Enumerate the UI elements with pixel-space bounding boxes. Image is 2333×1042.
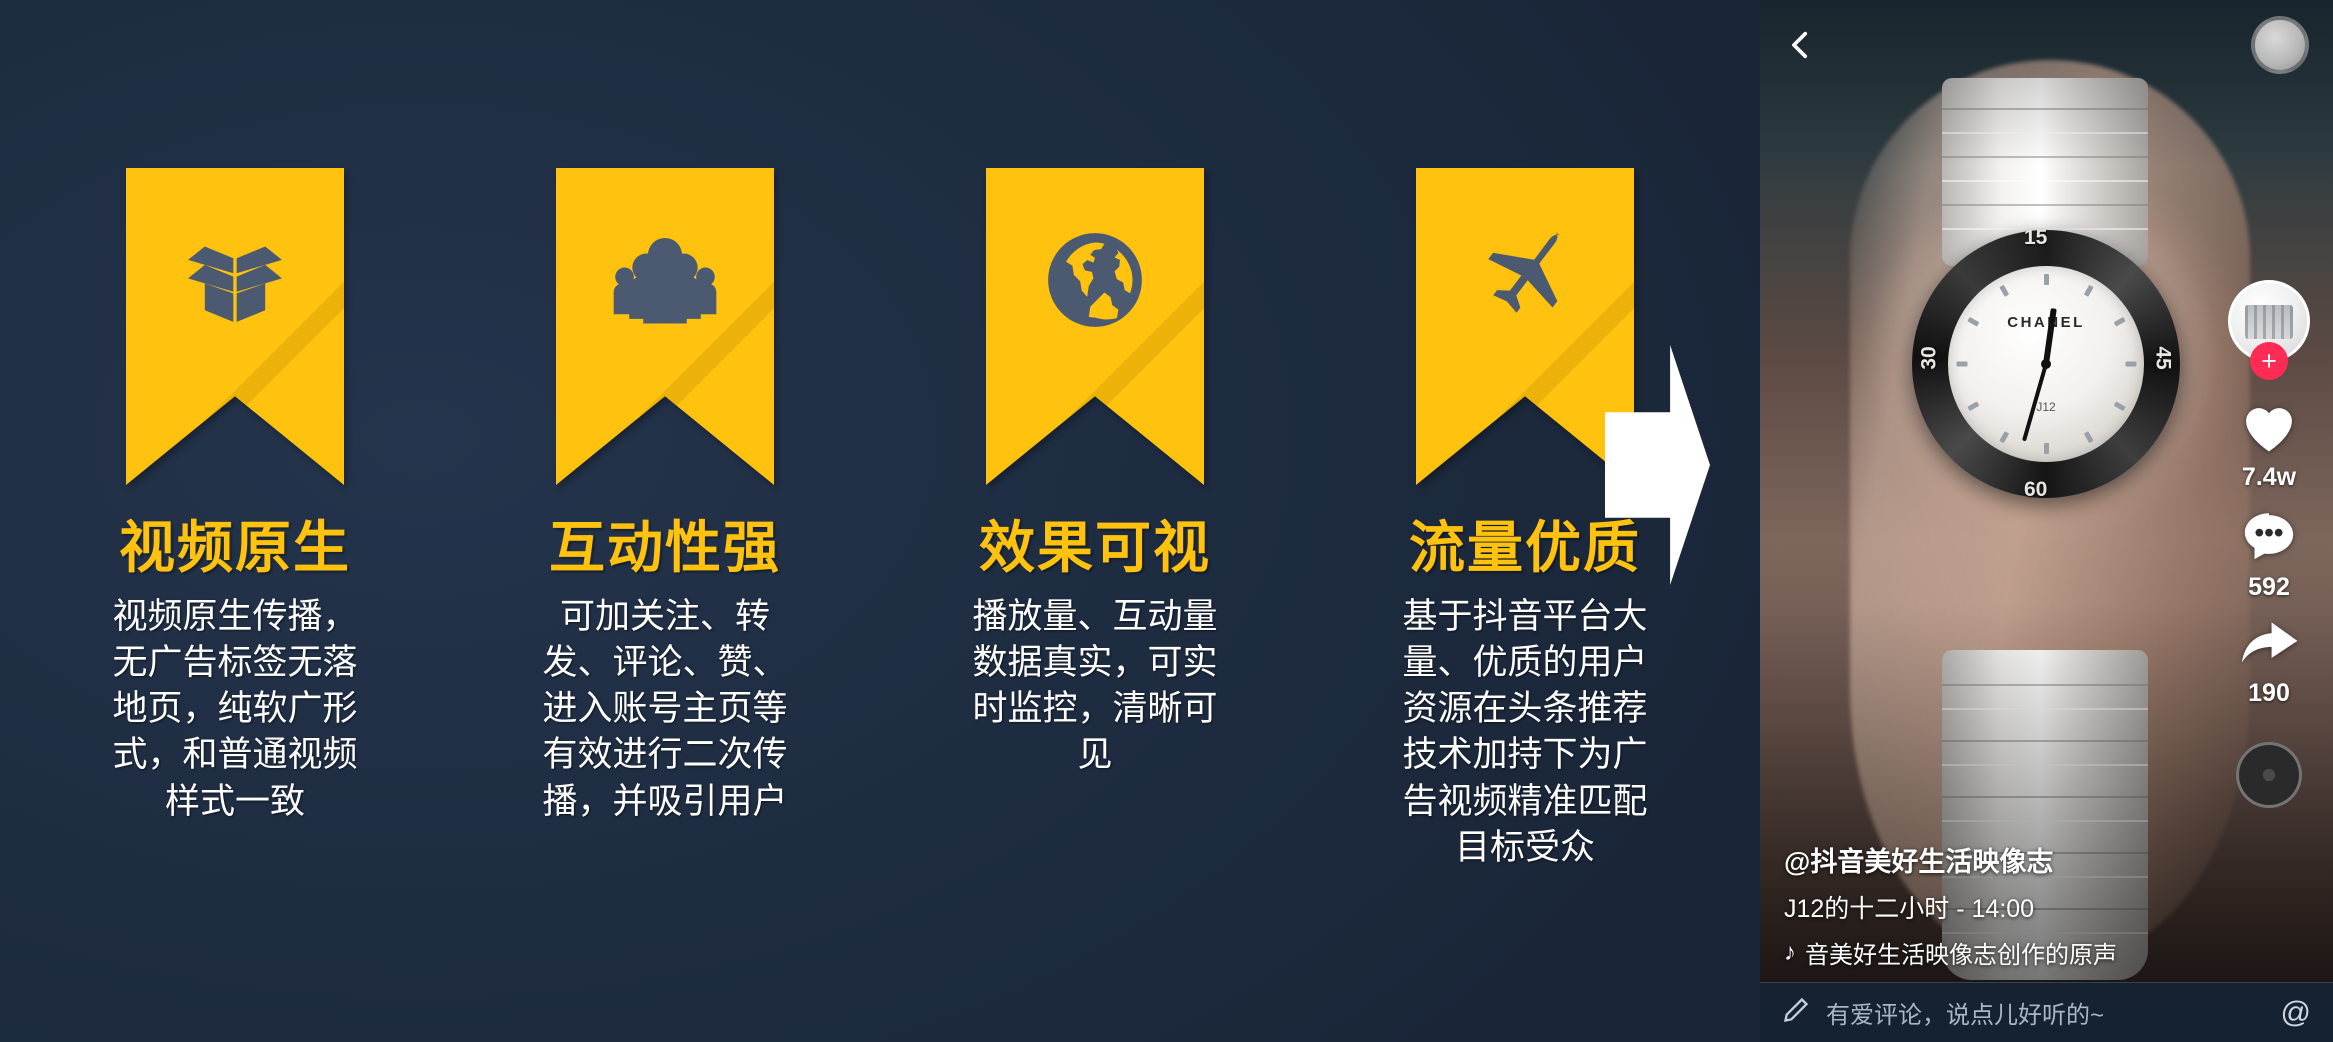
strap-link — [1942, 156, 2148, 182]
author-avatar[interactable]: + — [2228, 280, 2310, 380]
feature-ribbon-1 — [126, 168, 344, 485]
watch-dial: CHANEL J12 — [1948, 266, 2144, 462]
bezel-number-30: 30 — [1918, 346, 1942, 369]
strap-link — [1942, 108, 2148, 134]
dial-marker — [1999, 431, 2009, 443]
feature-column-3: 效果可视 播放量、互动量数据真实，可实时监控，清晰可见 — [880, 0, 1310, 1042]
feature-title: 互动性强 — [549, 519, 781, 578]
mention-at-icon[interactable]: @ — [2281, 998, 2311, 1028]
feature-title: 效果可视 — [979, 519, 1211, 578]
feature-column-1: 视频原生 视频原生传播，无广告标签无落地页，纯软广形式，和普通视频样式一致 — [20, 0, 450, 1042]
slide-root: 视频原生 视频原生传播，无广告标签无落地页，纯软广形式，和普通视频样式一致 — [0, 0, 2333, 1042]
feature-description: 基于抖音平台大量、优质的用户资源在头条推荐技术加持下为广告视频精准匹配目标受众 — [1389, 594, 1661, 871]
arrow-shape — [1605, 345, 1710, 585]
airplane-icon — [1416, 220, 1634, 340]
bezel-number-60: 60 — [2024, 478, 2047, 502]
dial-marker — [1956, 362, 1967, 367]
follow-button[interactable]: + — [2250, 342, 2288, 380]
feature-ribbon-4 — [1416, 168, 1634, 485]
video-top-bar — [1760, 0, 2333, 90]
feature-ribbon-3 — [986, 168, 1204, 485]
heart-icon — [2238, 398, 2300, 459]
right-arrow-icon — [1605, 345, 1710, 585]
like-button[interactable]: 7.4w — [2238, 398, 2300, 492]
music-name: 音美好生活映像志创作的原声 — [1805, 935, 2117, 970]
author-name[interactable]: @抖音美好生活映像志 — [1784, 840, 2204, 879]
music-info[interactable]: ♪ 音美好生活映像志创作的原声 — [1784, 935, 2204, 970]
features-panel: 视频原生 视频原生传播，无广告标签无落地页，纯软广形式，和普通视频样式一致 — [0, 0, 1760, 1042]
dial-marker — [2044, 443, 2049, 454]
pencil-icon — [1782, 996, 1810, 1029]
comment-count: 592 — [2248, 573, 2290, 602]
music-note-icon: ♪ — [1784, 939, 1796, 967]
user-group-icon — [556, 220, 774, 340]
feature-column-2: 互动性强 可加关注、转发、评论、赞、进入账号主页等有效进行二次传播，并吸引用户 — [450, 0, 880, 1042]
strap-link — [1942, 796, 2148, 822]
share-button[interactable]: 190 — [2238, 616, 2300, 708]
package-box-icon — [126, 220, 344, 340]
strap-link — [1942, 740, 2148, 766]
video-title: J12的十二小时 - 14:00 — [1784, 889, 2204, 925]
dial-marker — [2044, 274, 2049, 285]
dial-marker — [2083, 431, 2093, 443]
strap-link — [1942, 684, 2148, 710]
feature-ribbon-2 — [556, 168, 774, 485]
video-caption: @抖音美好生活映像志 J12的十二小时 - 14:00 ♪ 音美好生活映像志创作… — [1784, 840, 2204, 970]
share-count: 190 — [2248, 679, 2290, 708]
video-action-rail: + 7.4w 59 — [2223, 280, 2315, 808]
comment-input-bar[interactable]: 有爱评论，说点儿好听的~ @ — [1760, 982, 2333, 1042]
comment-button[interactable]: 592 — [2239, 506, 2299, 602]
dial-marker — [1999, 285, 2009, 297]
dial-marker — [2125, 362, 2136, 367]
feature-description: 视频原生传播，无广告标签无落地页，纯软广形式，和普通视频样式一致 — [99, 594, 371, 825]
dial-center-pin — [2041, 359, 2051, 369]
feature-title: 视频原生 — [119, 519, 351, 578]
like-count: 7.4w — [2242, 463, 2296, 492]
bezel-number-15: 15 — [2024, 226, 2047, 250]
feature-description: 播放量、互动量数据真实，可实时监控，清晰可见 — [959, 594, 1231, 779]
dial-marker — [2083, 285, 2093, 297]
video-preview-panel: 15 30 45 60 CHANEL J12 — [1760, 0, 2333, 1042]
dial-model: J12 — [1948, 400, 2144, 414]
feature-description: 可加关注、转发、评论、赞、进入账号主页等有效进行二次传播，并吸引用户 — [529, 594, 801, 825]
watch-case: 15 30 45 60 CHANEL J12 — [1912, 230, 2180, 498]
camera-lens-icon[interactable] — [2251, 16, 2309, 74]
back-chevron-icon[interactable] — [1784, 28, 1818, 62]
comment-placeholder[interactable]: 有爱评论，说点儿好听的~ — [1826, 995, 2265, 1030]
music-disc-icon[interactable] — [2236, 742, 2302, 808]
share-arrow-icon — [2238, 616, 2300, 675]
globe-icon — [986, 220, 1204, 340]
comment-bubble-icon — [2239, 506, 2299, 569]
dial-brand: CHANEL — [1948, 314, 2144, 331]
bezel-number-45: 45 — [2150, 346, 2174, 369]
